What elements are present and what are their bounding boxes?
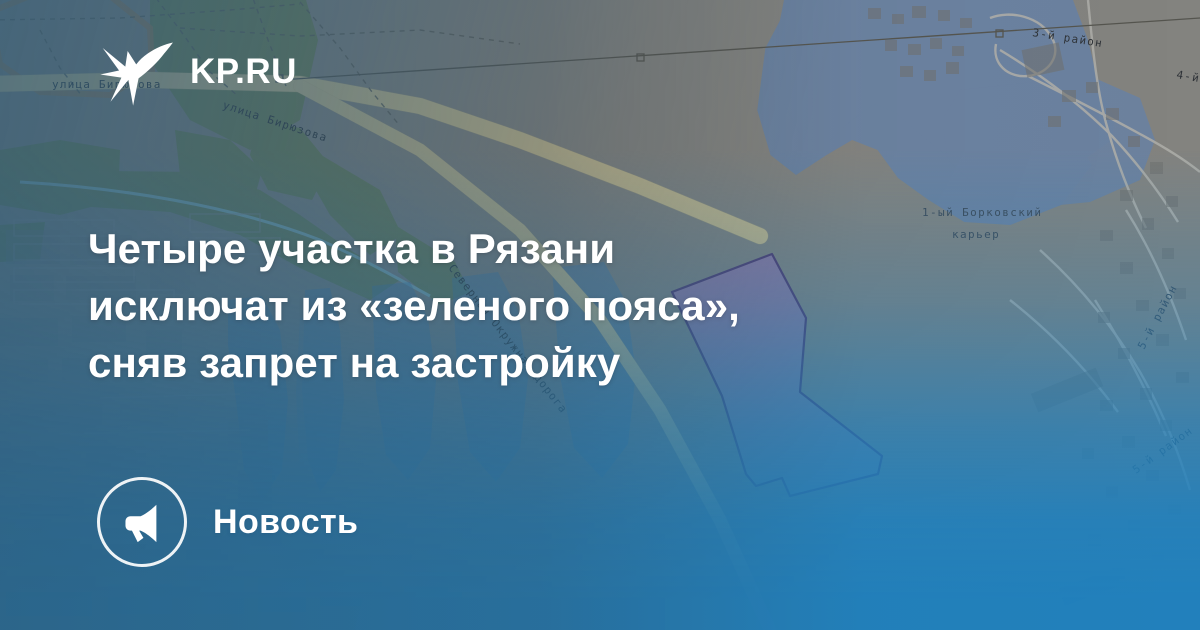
badge-label: Новость [213, 505, 358, 539]
headline-line-2: исключат из «зеленого пояса», [88, 277, 788, 334]
status-badge[interactable]: Новость [97, 477, 358, 567]
brand-logo-text: KP.RU [190, 54, 297, 89]
page-title: Четыре участка в Рязани исключат из «зел… [88, 220, 788, 391]
brand-logo[interactable]: KP.RU [98, 34, 297, 108]
map-label-quarry-line2: карьер [952, 228, 1000, 241]
megaphone-icon [119, 499, 165, 545]
headline-line-3: сняв запрет на застройку [88, 334, 788, 391]
swallow-bird-icon [98, 30, 176, 108]
badge-icon-circle [97, 477, 187, 567]
social-share-card: улица Бирюзова улица Бирюзова Северная О… [0, 0, 1200, 630]
map-label-quarry-line1: 1-ый Борковский [922, 206, 1042, 219]
headline-line-1: Четыре участка в Рязани [88, 220, 788, 277]
